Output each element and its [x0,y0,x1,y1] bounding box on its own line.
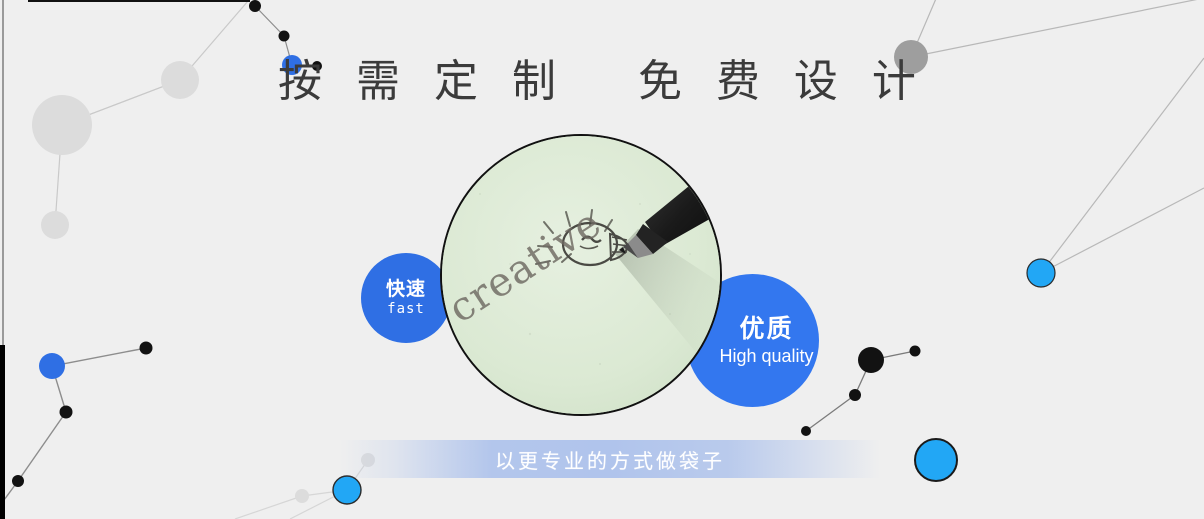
node-cyan-c [915,439,957,481]
node-cyan-a [1027,259,1055,287]
tagline-banner: 以更专业的方式做袋子 [340,440,880,478]
node-cyan-b [333,476,361,504]
bubble-fast-label-cn: 快速 [386,278,426,300]
node-black-h [910,346,921,357]
creative-sketch-image: creative [440,134,722,416]
node-gray-small [41,211,69,239]
node-black-d [140,342,153,355]
node-black-j [801,426,811,436]
bubble-quality-label-en: High quality [719,344,813,368]
node-black-i [849,389,861,401]
node-black-g [858,347,884,373]
tagline-text: 以更专业的方式做袋子 [495,445,725,474]
node-black-a [249,0,261,12]
top-edge-black-rule [28,0,250,2]
node-blue-b [39,353,65,379]
bubble-fast-label-en: fast [387,300,425,318]
node-gray-dot-b [295,489,309,503]
banner-stage: 按 需 定 制 免 费 设 计 [0,0,1204,519]
bubble-quality-label-cn: 优质 [739,314,793,344]
page-title: 按 需 定 制 免 费 设 计 [0,45,1204,109]
node-black-b [279,31,290,42]
left-edge-black-rule [0,345,5,519]
creative-photo-circle: creative [440,134,722,416]
bubble-fast[interactable]: 快速 fast [361,253,451,343]
node-black-f [12,475,24,487]
node-black-e [60,406,73,419]
